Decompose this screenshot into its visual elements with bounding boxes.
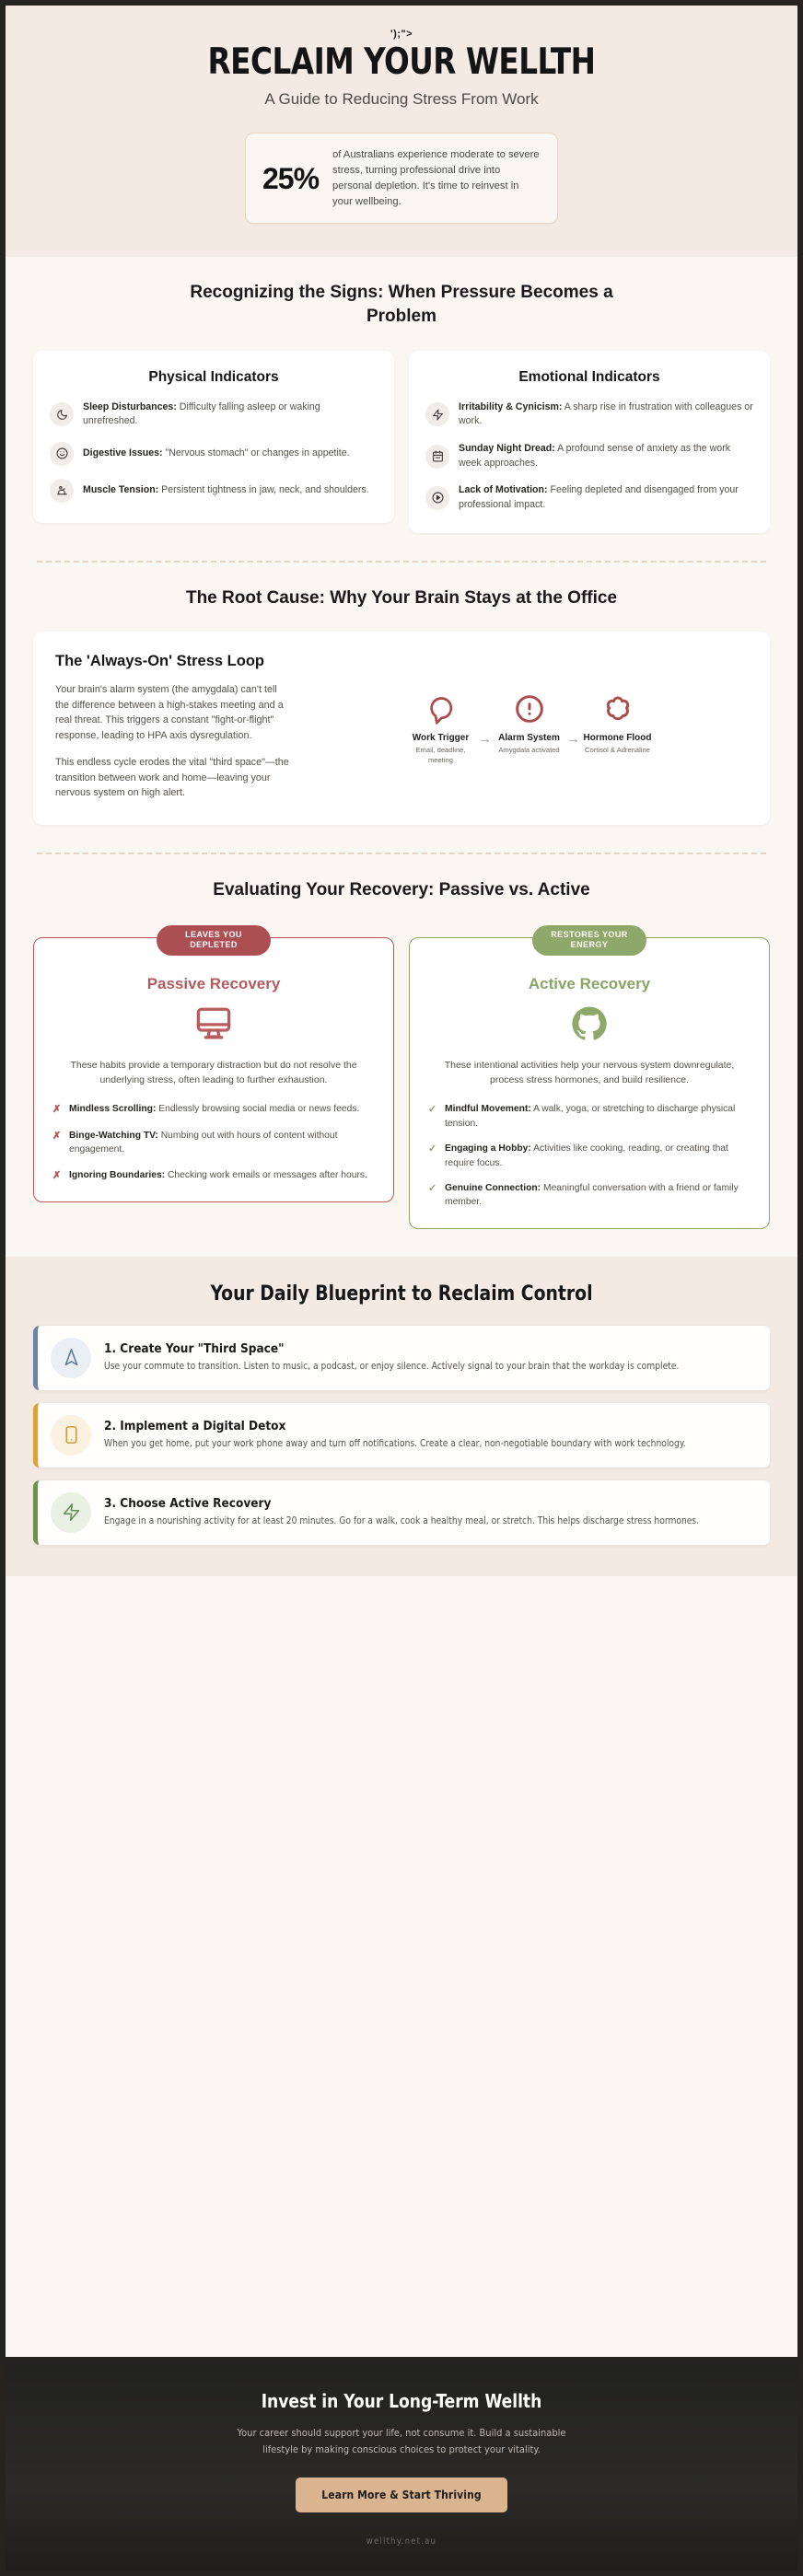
- list-item-body: Endlessly browsing social media or news …: [156, 1104, 359, 1114]
- list-item-label: Muscle Tension:: [83, 484, 158, 495]
- blueprint-step-title: 3. Choose Active Recovery: [104, 1496, 753, 1511]
- list-item-label: Lack of Motivation:: [459, 484, 548, 495]
- list-item-text: Sunday Night Dread: A profound sense of …: [459, 442, 753, 470]
- stray-code-artifact: ');">: [33, 29, 770, 40]
- passive-recovery-title: Passive Recovery: [52, 975, 375, 993]
- active-recovery-intro: These intentional activities help your n…: [428, 1058, 751, 1088]
- list-item-text: Mindless Scrolling: Endlessly browsing s…: [69, 1102, 359, 1116]
- loop-node-desc: Email, deadline, meeting: [407, 746, 475, 765]
- list-item-text: Ignoring Boundaries: Checking work email…: [69, 1168, 367, 1182]
- zap-icon: [425, 402, 449, 426]
- footer-wrapper: Invest in Your Long-Term Wellth Your car…: [0, 2357, 803, 2576]
- root-cause-heading: The Root Cause: Why Your Brain Stays at …: [185, 586, 618, 610]
- cross-icon: ✗: [52, 1168, 62, 1184]
- recovery-cards-row: LEAVES YOU DEPLETED Passive Recovery The…: [33, 924, 770, 1229]
- blueprint-step-text: Use your commute to transition. Listen t…: [104, 1360, 753, 1374]
- cross-icon: ✗: [52, 1129, 62, 1144]
- loop-node-label: Alarm System: [495, 732, 564, 744]
- blueprint-step-title: 1. Create Your "Third Space": [104, 1341, 753, 1356]
- check-icon: ✓: [428, 1142, 437, 1157]
- footer-url: wellthy.net.au: [42, 2536, 761, 2547]
- stress-loop-card: The 'Always-On' Stress Loop Your brain's…: [33, 632, 770, 825]
- navigation-icon: [51, 1338, 91, 1378]
- list-item-label: Ignoring Boundaries:: [69, 1170, 165, 1180]
- blueprint-step-1: 1. Create Your "Third Space" Use your co…: [33, 1326, 770, 1390]
- github-icon: [428, 1004, 751, 1043]
- cta-button[interactable]: Learn More & Start Thriving: [296, 2477, 506, 2512]
- list-item-text: Digestive Issues: "Nervous stomach" or c…: [83, 447, 350, 461]
- brain-icon: [584, 690, 652, 727]
- list-item-text: Irritability & Cynicism: A sharp rise in…: [459, 400, 753, 429]
- hero-section: ');"> RECLAIM YOUR WELLTH A Guide to Red…: [6, 6, 797, 257]
- loop-node-hormone-flood: Hormone Flood Cortisol & Adrenaline: [584, 690, 652, 755]
- footer-subtitle: Your career should support your life, no…: [236, 2425, 567, 2457]
- message-icon: [407, 690, 475, 727]
- list-item-label: Sleep Disturbances:: [83, 401, 177, 412]
- stat-description: of Australians experience moderate to se…: [332, 147, 541, 209]
- recovery-section: Evaluating Your Recovery: Passive vs. Ac…: [6, 854, 797, 1229]
- loop-node-label: Work Trigger: [407, 732, 475, 744]
- moon-icon: [50, 402, 74, 426]
- loop-arrow-icon: →: [567, 690, 580, 746]
- signs-heading: Recognizing the Signs: When Pressure Bec…: [185, 281, 618, 328]
- list-item: ✓ Engaging a Hobby: Activities like cook…: [428, 1142, 751, 1170]
- emotional-card-title: Emotional Indicators: [425, 369, 753, 386]
- stress-loop-para-2: This endless cycle erodes the vital "thi…: [55, 755, 290, 801]
- physical-indicators-card: Physical Indicators Sleep Disturbances: …: [33, 351, 394, 523]
- stress-loop-copy: The 'Always-On' Stress Loop Your brain's…: [55, 652, 290, 801]
- physical-card-title: Physical Indicators: [50, 369, 378, 386]
- passive-recovery-card: LEAVES YOU DEPLETED Passive Recovery The…: [33, 937, 394, 1202]
- infographic-page: ');"> RECLAIM YOUR WELLTH A Guide to Red…: [0, 0, 803, 2357]
- stress-loop-diagram: Work Trigger Email, deadline, meeting → …: [310, 652, 748, 801]
- footer-section: Invest in Your Long-Term Wellth Your car…: [0, 2357, 803, 2576]
- list-item: ✗ Mindless Scrolling: Endlessly browsing…: [52, 1102, 375, 1118]
- list-item: ✗ Binge-Watching TV: Numbing out with ho…: [52, 1129, 375, 1157]
- list-item-label: Engaging a Hobby:: [445, 1143, 531, 1154]
- list-item: ✗ Ignoring Boundaries: Checking work ema…: [52, 1168, 375, 1184]
- blueprint-step-text: When you get home, put your work phone a…: [104, 1437, 753, 1451]
- smile-icon: [50, 442, 74, 466]
- blueprint-step-body: 3. Choose Active Recovery Engage in a no…: [104, 1496, 753, 1528]
- loop-node-alarm-system: Alarm System Amygdala activated: [495, 690, 564, 755]
- footer-title: Invest in Your Long-Term Wellth: [61, 2390, 743, 2412]
- blueprint-section: Your Daily Blueprint to Reclaim Control …: [6, 1257, 797, 1576]
- target-icon: [425, 486, 449, 510]
- signs-section: Recognizing the Signs: When Pressure Bec…: [6, 257, 797, 532]
- active-recovery-title: Active Recovery: [428, 975, 751, 993]
- list-item-label: Irritability & Cynicism:: [459, 401, 562, 412]
- calendar-icon: [425, 445, 449, 469]
- blueprint-step-text: Engage in a nourishing activity for at l…: [104, 1514, 753, 1528]
- list-item: Muscle Tension: Persistent tightness in …: [50, 479, 378, 503]
- list-item-text: Muscle Tension: Persistent tightness in …: [83, 483, 369, 498]
- loop-node-desc: Amygdala activated: [495, 746, 564, 755]
- stress-loop-title: The 'Always-On' Stress Loop: [55, 652, 290, 671]
- list-item-text: Engaging a Hobby: Activities like cookin…: [445, 1142, 751, 1170]
- list-item-body: Persistent tightness in jaw, neck, and s…: [158, 484, 368, 495]
- list-item: Irritability & Cynicism: A sharp rise in…: [425, 400, 753, 429]
- list-item: ✓ Mindful Movement: A walk, yoga, or str…: [428, 1102, 751, 1131]
- list-item-text: Lack of Motivation: Feeling depleted and…: [459, 483, 753, 512]
- list-item-label: Binge-Watching TV:: [69, 1131, 158, 1141]
- list-item: Sunday Night Dread: A profound sense of …: [425, 442, 753, 470]
- list-item-text: Sleep Disturbances: Difficulty falling a…: [83, 400, 378, 429]
- stress-loop-para-1: Your brain's alarm system (the amygdala)…: [55, 682, 290, 744]
- emotional-indicators-card: Emotional Indicators Irritability & Cyni…: [409, 351, 770, 533]
- cross-icon: ✗: [52, 1102, 62, 1118]
- list-item-body: "Nervous stomach" or changes in appetite…: [163, 447, 350, 458]
- check-icon: ✓: [428, 1181, 437, 1197]
- smartphone-icon: [51, 1415, 91, 1456]
- monitor-icon: [52, 1004, 375, 1043]
- blueprint-heading: Your Daily Blueprint to Reclaim Control: [52, 1282, 751, 1305]
- list-item-text: Mindful Movement: A walk, yoga, or stret…: [445, 1102, 751, 1131]
- list-item-label: Digestive Issues:: [83, 447, 163, 458]
- status-badge: LEAVES YOU DEPLETED: [157, 925, 271, 956]
- list-item: ✓ Genuine Connection: Meaningful convers…: [428, 1181, 751, 1210]
- blueprint-step-3: 3. Choose Active Recovery Engage in a no…: [33, 1480, 770, 1545]
- blueprint-step-body: 1. Create Your "Third Space" Use your co…: [104, 1341, 753, 1374]
- alert-icon: [495, 690, 564, 727]
- blueprint-step-2: 2. Implement a Digital Detox When you ge…: [33, 1403, 770, 1468]
- loop-node-label: Hormone Flood: [584, 732, 652, 744]
- page-subtitle: A Guide to Reducing Stress From Work: [33, 90, 770, 109]
- list-item-text: Genuine Connection: Meaningful conversat…: [445, 1181, 751, 1210]
- page-title: RECLAIM YOUR WELLTH: [59, 43, 744, 82]
- list-item: Lack of Motivation: Feeling depleted and…: [425, 483, 753, 512]
- indicator-cards-row: Physical Indicators Sleep Disturbances: …: [33, 351, 770, 533]
- loop-arrow-icon: →: [479, 690, 492, 746]
- status-badge: RESTORES YOUR ENERGY: [532, 925, 646, 956]
- list-item-label: Mindless Scrolling:: [69, 1104, 156, 1114]
- stat-number: 25%: [262, 164, 319, 193]
- recovery-heading: Evaluating Your Recovery: Passive vs. Ac…: [185, 878, 618, 902]
- list-item-label: Sunday Night Dread:: [459, 443, 555, 454]
- zap-icon: [51, 1492, 91, 1533]
- list-item-body: Checking work emails or messages after h…: [165, 1170, 367, 1180]
- list-item-label: Genuine Connection:: [445, 1183, 541, 1193]
- list-item: Sleep Disturbances: Difficulty falling a…: [50, 400, 378, 429]
- list-item-text: Binge-Watching TV: Numbing out with hour…: [69, 1129, 375, 1157]
- loop-node-desc: Cortisol & Adrenaline: [584, 746, 652, 755]
- blueprint-step-title: 2. Implement a Digital Detox: [104, 1419, 753, 1433]
- root-cause-section: The Root Cause: Why Your Brain Stays at …: [6, 563, 797, 825]
- list-item: Digestive Issues: "Nervous stomach" or c…: [50, 442, 378, 466]
- check-icon: ✓: [428, 1102, 437, 1118]
- blueprint-step-body: 2. Implement a Digital Detox When you ge…: [104, 1419, 753, 1451]
- passive-recovery-intro: These habits provide a temporary distrac…: [52, 1058, 375, 1088]
- list-item-label: Mindful Movement:: [445, 1104, 531, 1114]
- active-recovery-card: RESTORES YOUR ENERGY Active Recovery The…: [409, 937, 770, 1229]
- muscle-icon: [50, 479, 74, 503]
- loop-node-work-trigger: Work Trigger Email, deadline, meeting: [407, 690, 475, 765]
- stat-highlight-box: 25% of Australians experience moderate t…: [245, 133, 558, 224]
